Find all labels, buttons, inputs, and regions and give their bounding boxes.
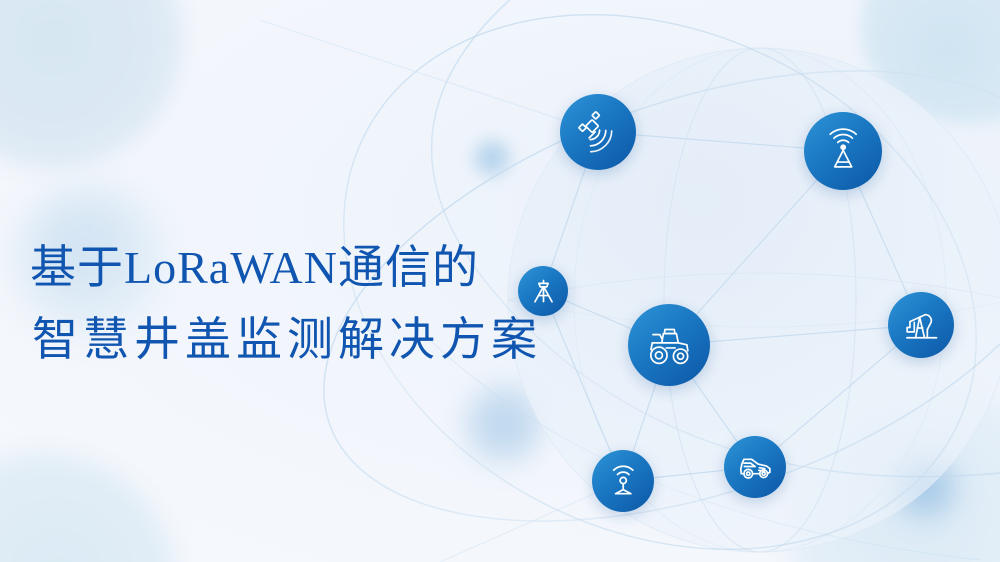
node-tripod[interactable] — [518, 266, 568, 316]
oil-pumpjack-icon — [901, 305, 942, 346]
survey-tripod-icon — [528, 276, 559, 307]
node-sensor[interactable] — [592, 450, 654, 512]
node-satellite[interactable] — [560, 94, 636, 170]
wireless-sensor-icon — [604, 462, 642, 500]
slide-title: 基于LoRaWAN通信的 智慧井盖监测解决方案 — [30, 232, 590, 376]
utility-vehicle-icon — [736, 448, 774, 486]
node-vehicle[interactable] — [724, 436, 786, 498]
node-tractor[interactable] — [628, 304, 710, 386]
node-pumpjack[interactable] — [888, 292, 954, 358]
title-line-1: 基于LoRaWAN通信的 — [30, 232, 590, 304]
node-antenna[interactable] — [804, 112, 882, 190]
presentation-title-slide: 基于LoRaWAN通信的 智慧井盖监测解决方案 — [0, 0, 1000, 562]
satellite-signal-icon — [574, 108, 621, 155]
radio-tower-icon — [819, 127, 867, 175]
tractor-icon — [644, 320, 695, 371]
title-line-2: 智慧井盖监测解决方案 — [30, 304, 590, 376]
